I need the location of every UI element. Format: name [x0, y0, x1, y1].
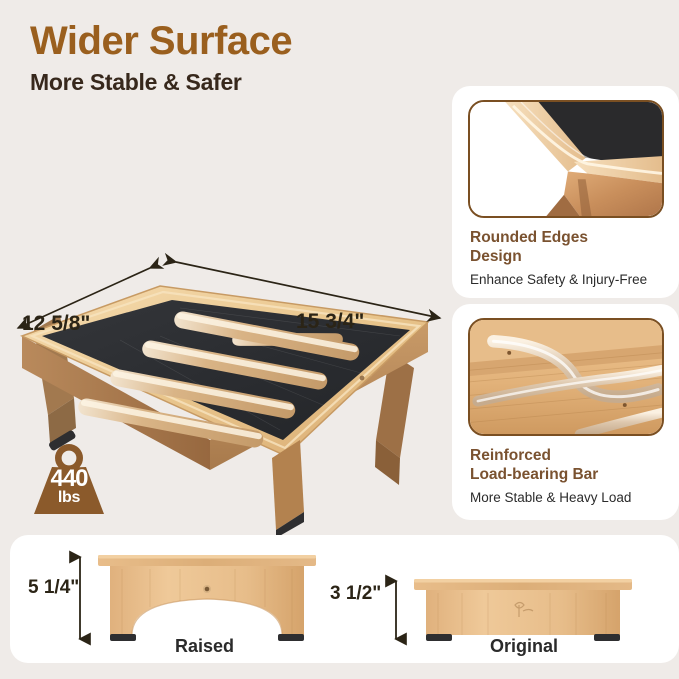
reinforced-bar-underside-icon [470, 320, 662, 434]
raised-caption: Raised [175, 636, 234, 657]
original-caption: Original [490, 636, 558, 657]
feature-card-load-bearing-bar: Reinforced Load-bearing Bar More Stable … [452, 304, 679, 520]
height-comparison-card: 5 1/4" 3 1/2" Raised Original [10, 535, 679, 663]
headline-block: Wider Surface More Stable & Safer [30, 20, 292, 96]
raised-height-label: 5 1/4" [28, 577, 79, 599]
dimension-label-length: 15 3/4" [296, 310, 364, 334]
weight-capacity-badge: 440 lbs [30, 440, 108, 520]
feature-title-line2: Load-bearing Bar [470, 465, 670, 484]
feature-title-line1: Rounded Edges [470, 228, 670, 247]
rounded-corner-closeup-icon [470, 102, 662, 216]
page-title: Wider Surface [30, 20, 292, 62]
feature-subtitle-load-bearing-bar: More Stable & Heavy Load [470, 490, 676, 507]
feature-title-line2: Design [470, 247, 670, 266]
feature-photo-load-bearing-bar [468, 318, 664, 436]
feature-title-load-bearing-bar: Reinforced Load-bearing Bar [470, 446, 670, 485]
infographic-stage: Wider Surface More Stable & Safer [0, 0, 679, 679]
page-subtitle: More Stable & Safer [30, 69, 292, 96]
feature-title-line1: Reinforced [470, 446, 670, 465]
dimension-label-width: 12 5/8" [22, 312, 90, 336]
feature-title-rounded-edges: Rounded Edges Design [470, 228, 670, 267]
original-height-label: 3 1/2" [330, 583, 381, 605]
feature-card-rounded-edges: Rounded Edges Design Enhance Safety & In… [452, 86, 679, 298]
feature-photo-rounded-edges [468, 100, 664, 218]
feature-subtitle-rounded-edges: Enhance Safety & Injury-Free [470, 272, 676, 289]
weight-icon [30, 440, 108, 520]
